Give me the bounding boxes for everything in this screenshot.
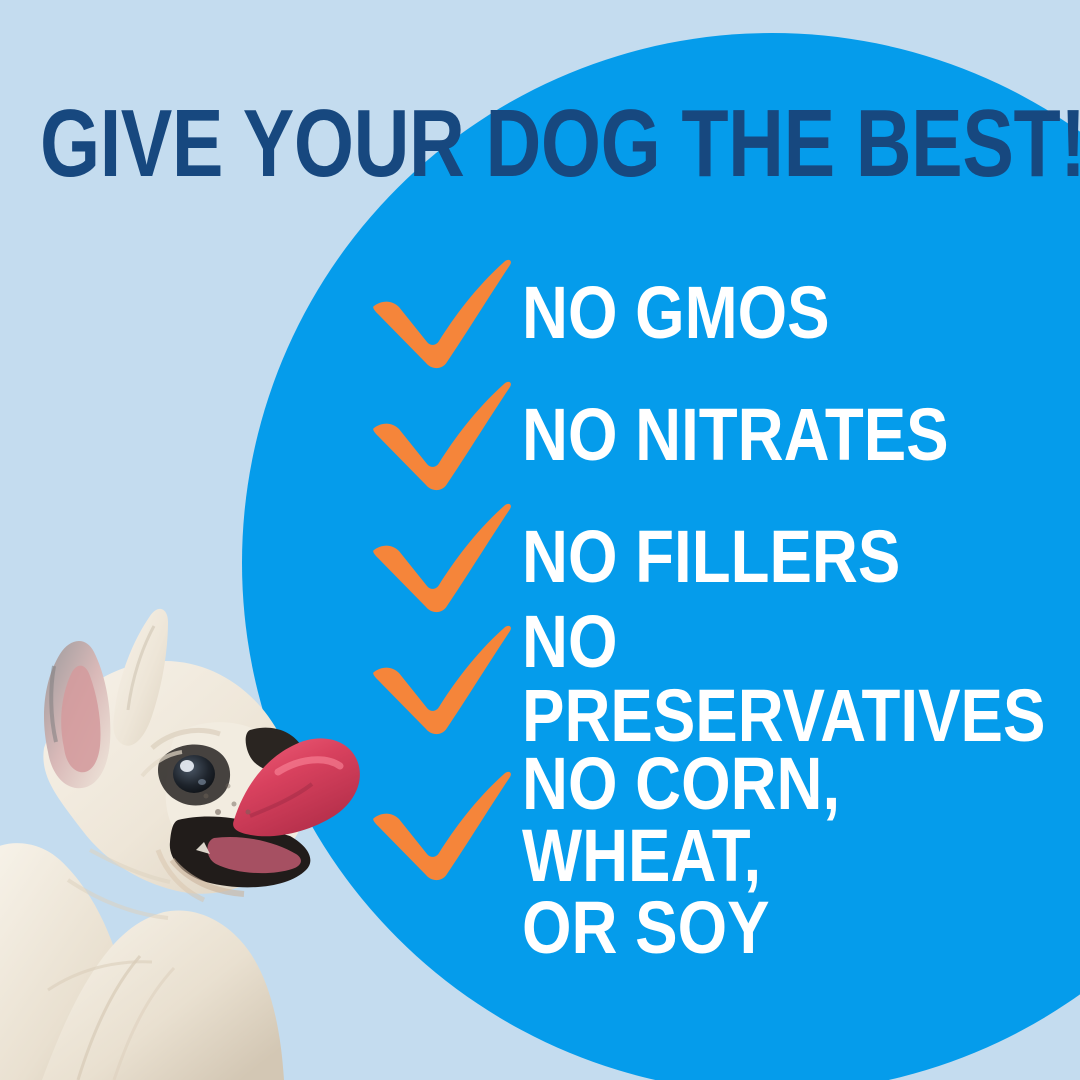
promo-poster: GIVE YOUR DOG THE BEST! NO GMOS NO NITRA… — [0, 0, 1080, 1080]
list-item-label: NO NITRATES — [522, 398, 949, 472]
list-item: NO PRESERVATIVES — [372, 618, 1072, 740]
dog-photo — [0, 520, 402, 1080]
check-icon — [372, 254, 522, 366]
list-item-label: NO CORN, WHEAT, OR SOY — [522, 748, 995, 964]
list-item-label: NO GMOS — [522, 276, 830, 350]
list-item: NO FILLERS — [372, 496, 1072, 618]
list-item: NO CORN, WHEAT, OR SOY — [372, 740, 1072, 890]
list-item-label: NO PRESERVATIVES — [522, 605, 1045, 753]
check-icon — [372, 376, 522, 488]
list-item-label: NO FILLERS — [522, 520, 900, 594]
page-title: GIVE YOUR DOG THE BEST! — [40, 96, 853, 192]
list-item: NO GMOS — [372, 252, 1072, 374]
list-item: NO NITRATES — [372, 374, 1072, 496]
benefits-checklist: NO GMOS NO NITRATES NO FILLERS — [372, 252, 1072, 890]
